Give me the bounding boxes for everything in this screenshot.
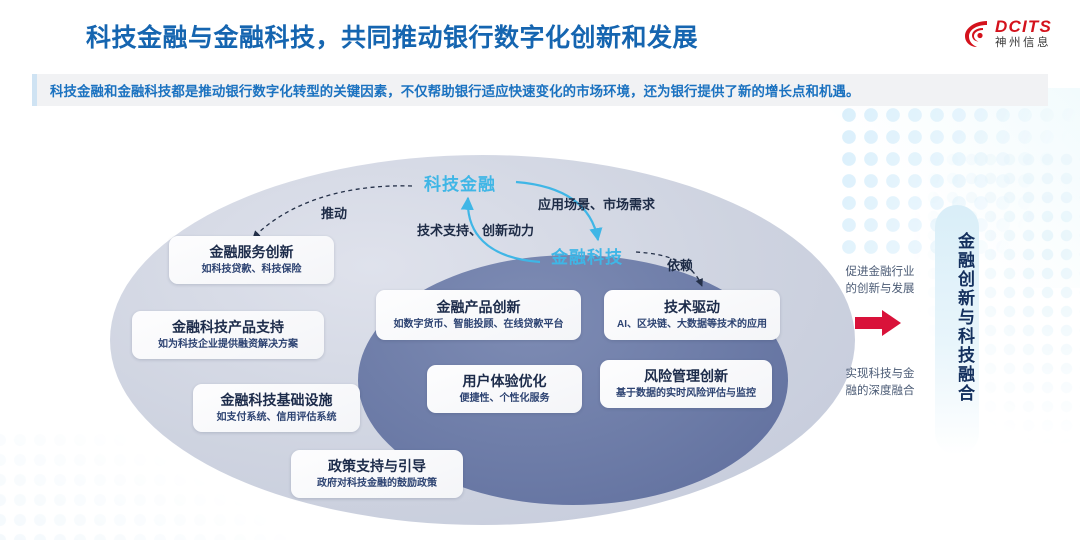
halftone-dots-right: [905, 150, 1080, 450]
right-panel-top-line2: 的创新与发展: [838, 281, 922, 298]
logo-text-cn: 神州信息: [995, 38, 1052, 50]
card-subtitle: AI、区块链、大数据等技术的应用: [617, 319, 767, 331]
right-panel-bottom-text: 实现科技与金 融的深度融合: [838, 366, 922, 399]
card-fintech-product-support[interactable]: 金融科技产品支持 如为科技企业提供融资解决方案: [132, 311, 324, 359]
card-title: 金融科技基础设施: [221, 392, 333, 409]
card-subtitle: 如数字货币、智能投顾、在线贷款平台: [394, 319, 564, 331]
right-panel-bottom-line2: 融的深度融合: [838, 383, 922, 400]
card-title: 风险管理创新: [644, 368, 728, 385]
card-title: 政策支持与引导: [328, 458, 426, 475]
brand-logo: DCITS 神州信息: [963, 18, 1052, 50]
subtitle-text: 科技金融和金融科技都是推动银行数字化转型的关键因素，不仅帮助银行适应快速变化的市…: [32, 80, 859, 100]
card-title: 技术驱动: [664, 299, 720, 316]
card-subtitle: 基于数据的实时风险评估与监控: [616, 388, 756, 400]
right-panel-top-text: 促进金融行业 的创新与发展: [838, 264, 922, 297]
label-tech-support: 技术支持、创新动力: [417, 220, 534, 239]
card-risk-management-innovation[interactable]: 风险管理创新 基于数据的实时风险评估与监控: [600, 360, 772, 408]
card-subtitle: 政府对科技金融的鼓励政策: [317, 478, 437, 490]
card-fintech-infrastructure[interactable]: 金融科技基础设施 如支付系统、信用评估系统: [193, 384, 360, 432]
label-drive: 推动: [321, 203, 347, 222]
card-technology-driven[interactable]: 技术驱动 AI、区块链、大数据等技术的应用: [604, 290, 780, 340]
card-subtitle: 如为科技企业提供融资解决方案: [158, 339, 298, 351]
red-arrow-icon: [855, 308, 903, 338]
right-panel-top-line1: 促进金融行业: [838, 264, 922, 281]
label-fintech: 金融科技: [551, 243, 623, 268]
card-policy-support[interactable]: 政策支持与引导 政府对科技金融的鼓励政策: [291, 450, 463, 498]
card-user-experience-optimization[interactable]: 用户体验优化 便捷性、个性化服务: [427, 365, 582, 413]
label-tech-finance: 科技金融: [424, 170, 496, 195]
subtitle-band: 科技金融和金融科技都是推动银行数字化转型的关键因素，不仅帮助银行适应快速变化的市…: [32, 74, 1048, 106]
card-title: 金融科技产品支持: [172, 319, 284, 336]
page-title: 科技金融与金融科技，共同推动银行数字化创新和发展: [86, 18, 698, 54]
label-depend: 依赖: [667, 255, 693, 274]
card-subtitle: 如科技贷款、科技保险: [202, 264, 302, 276]
card-subtitle: 便捷性、个性化服务: [460, 393, 550, 405]
right-panel-bottom-line1: 实现科技与金: [838, 366, 922, 383]
card-title: 金融服务创新: [210, 244, 294, 261]
logo-text-en: DCITS: [995, 18, 1052, 35]
dcits-swoosh-icon: [963, 19, 989, 49]
card-financial-product-innovation[interactable]: 金融产品创新 如数字货币、智能投顾、在线贷款平台: [376, 290, 581, 340]
vertical-title: 金融创新与科技融合: [941, 232, 973, 403]
label-scenario-demand: 应用场景、市场需求: [538, 194, 655, 213]
slide-canvas: 科技金融与金融科技，共同推动银行数字化创新和发展 DCITS 神州信息 科技金融…: [0, 0, 1080, 540]
card-title: 用户体验优化: [463, 373, 547, 390]
card-subtitle: 如支付系统、信用评估系统: [217, 412, 337, 424]
card-financial-service-innovation[interactable]: 金融服务创新 如科技贷款、科技保险: [169, 236, 334, 284]
card-title: 金融产品创新: [437, 299, 521, 316]
